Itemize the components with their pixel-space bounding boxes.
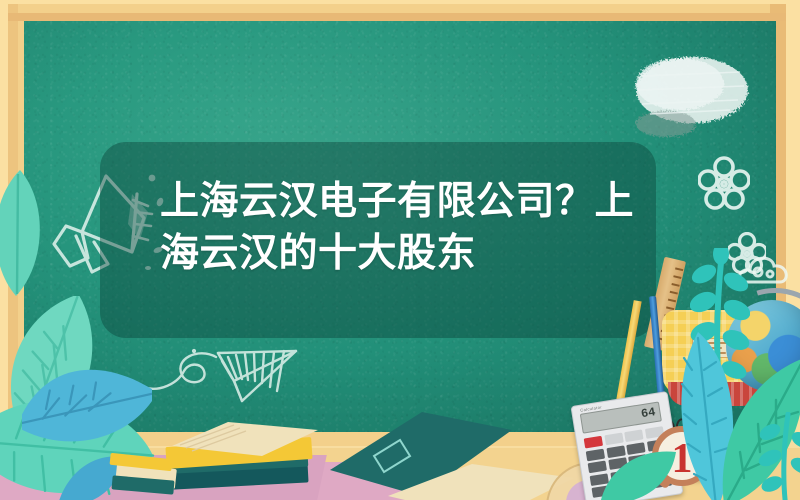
frame-inner-shadow xyxy=(8,13,786,21)
frame-left-edge xyxy=(8,4,18,446)
flower-icon xyxy=(728,232,766,274)
page-title: 上海云汉电子有限公司？上 海云汉的十大股东 xyxy=(160,176,680,280)
paper-plane-icon xyxy=(100,345,300,413)
poster-canvas: 上海云汉电子有限公司？上 海云汉的十大股东 xyxy=(0,0,800,500)
desk-mat-pink-angled xyxy=(67,455,327,500)
flower-icon xyxy=(698,156,750,214)
chalk-eraser-smear-icon xyxy=(628,46,756,142)
